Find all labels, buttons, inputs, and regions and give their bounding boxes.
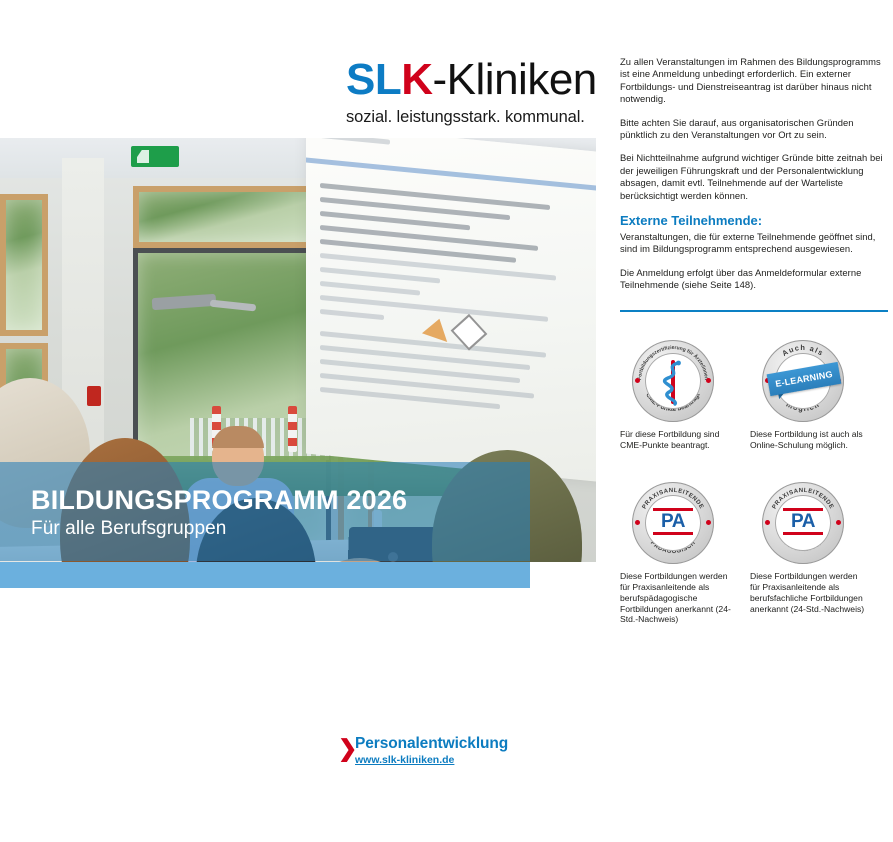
fire-alarm-box <box>87 386 101 406</box>
pa-fachlich-seal-icon: PRAXISANLEITENDE FACHLICH PA <box>762 482 844 564</box>
cover-page: SLK-Kliniken sozial. leistungsstark. kom… <box>0 0 893 842</box>
info-paragraph-3: Bei Nichtteilnahme aufgrund wichtiger Gr… <box>620 152 888 202</box>
projection-screen <box>306 138 596 482</box>
badge-cme: Fortbildungszertifizierung für Ärzte/inn… <box>620 340 750 450</box>
cme-seal-icon: Fortbildungszertifizierung für Ärzte/inn… <box>632 340 714 422</box>
badge-pa-paedagogisch: PRAXISANLEITENDE PÄDAGOGISCH PA Diese Fo… <box>620 482 750 625</box>
logo-tagline: sozial. leistungsstark. kommunal. <box>346 108 596 127</box>
pa-line-bottom <box>653 532 693 535</box>
info-paragraph-1: Zu allen Veranstaltungen im Rahmen des B… <box>620 56 888 106</box>
external-participants-heading: Externe Teilnehmende: <box>620 213 888 229</box>
badge-pa-fachlich: PRAXISANLEITENDE FACHLICH PA Diese Fortb… <box>750 482 880 625</box>
blue-accent-bar <box>0 562 530 588</box>
footer-website-link[interactable]: www.slk-kliniken.de <box>355 754 454 766</box>
window-left-upper <box>0 194 48 336</box>
badge-elearning: Auch als möglich E-LEARNING Diese Fortbi… <box>750 340 880 450</box>
pa-fach-mark: PA <box>782 508 824 538</box>
pa-paedagogisch-caption: Diese Fortbildungen werden für Praxisanl… <box>620 571 736 625</box>
logo-wordmark: SLK-Kliniken <box>346 55 596 105</box>
window-top-center <box>133 186 331 248</box>
cme-caption: Für diese Fortbildung sind CME-Punkte be… <box>620 429 736 450</box>
badge-legend: Fortbildungszertifizierung für Ärzte/inn… <box>620 340 888 625</box>
logo-k-text: K <box>401 55 432 104</box>
logo-kliniken-text: -Kliniken <box>433 55 597 104</box>
elearning-caption: Diese Fortbildung ist auch als Online-Sc… <box>750 429 866 450</box>
outdoor-pole-2 <box>288 406 297 452</box>
emergency-exit-sign-icon <box>131 146 179 167</box>
cme-dot-left <box>635 378 640 383</box>
badge-row-bottom: PRAXISANLEITENDE PÄDAGOGISCH PA Diese Fo… <box>620 482 888 625</box>
slk-kliniken-logo: SLK-Kliniken sozial. leistungsstark. kom… <box>346 55 596 127</box>
info-paragraph-2: Bitte achten Sie darauf, aus organisator… <box>620 117 888 142</box>
badge-row-top: Fortbildungszertifizierung für Ärzte/inn… <box>620 340 888 450</box>
pa-fach-letters: PA <box>782 511 824 532</box>
pa-fachlich-caption: Diese Fortbildungen werden für Praxisanl… <box>750 571 866 614</box>
pa-paed-letters: PA <box>652 511 694 532</box>
page-subtitle: Für alle Berufsgruppen <box>31 518 511 540</box>
cme-dot-right <box>706 378 711 383</box>
elearning-seal-icon: Auch als möglich E-LEARNING <box>762 340 844 422</box>
pa-paedagogisch-seal-icon: PRAXISANLEITENDE PÄDAGOGISCH PA <box>632 482 714 564</box>
logo-sl-text: SL <box>346 55 401 104</box>
section-divider <box>620 310 888 312</box>
pa-line-bottom-2 <box>783 532 823 535</box>
page-title: BILDUNGSPROGRAMM 2026 <box>31 485 511 516</box>
slide-arrow-icon <box>422 314 452 342</box>
aesculapian-snake-icon <box>658 358 688 406</box>
pa-paed-mark: PA <box>652 508 694 538</box>
chevron-right-icon: ❯ <box>338 737 352 759</box>
info-paragraph-4: Veranstaltungen, die für externe Teilneh… <box>620 231 888 256</box>
info-text-column: Zu allen Veranstaltungen im Rahmen des B… <box>620 56 888 292</box>
footer-department: Personalentwicklung <box>355 735 508 753</box>
info-paragraph-5: Die Anmeldung erfolgt über das Anmeldefo… <box>620 267 888 292</box>
